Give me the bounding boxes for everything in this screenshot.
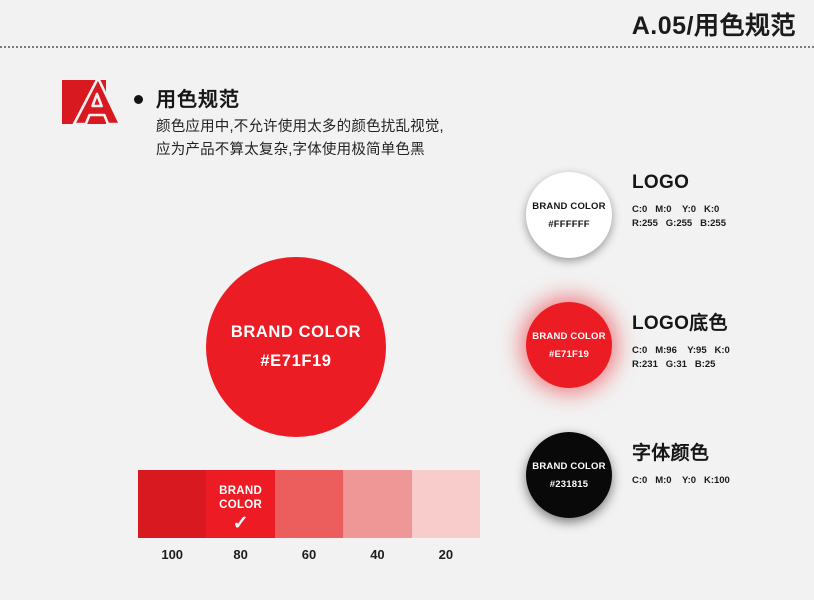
tint-swatch-20[interactable] <box>412 470 480 538</box>
tint-swatch-60[interactable] <box>275 470 343 538</box>
tint-swatch-100[interactable] <box>138 470 206 538</box>
tint-selected-label-line1: BRAND <box>219 485 262 497</box>
tint-swatch-40[interactable] <box>343 470 411 538</box>
color-row-text-text-color: 字体颜色 C:0 M:0 Y:0 K:100 <box>632 432 812 488</box>
tint-value-80: 80 <box>206 547 274 562</box>
header-divider <box>0 46 814 48</box>
color-row-cmyk-logo-background: C:0 M:96 Y:95 K:0 <box>632 344 812 358</box>
color-row-text-color: BRAND COLOR #231815 字体颜色 C:0 M:0 Y:0 K:1… <box>526 432 806 518</box>
brand-color-label: BRAND COLOR <box>231 323 361 342</box>
color-row-cmyk-logo: C:0 M:0 Y:0 K:0 <box>632 203 812 217</box>
bullet-dot-icon <box>134 95 143 104</box>
color-row-text-logo: LOGO C:0 M:0 Y:0 K:0 R:255 G:255 B:255 <box>632 172 812 231</box>
tint-selected-label-line2: COLOR <box>219 499 262 511</box>
swatch-hex-red: #E71F19 <box>549 349 589 360</box>
tint-value-row: 100 80 60 40 20 <box>138 547 480 562</box>
swatch-hex-white: #FFFFFF <box>548 219 590 230</box>
color-row-title-text-color: 字体颜色 <box>632 432 812 465</box>
intro-body-text: 颜色应用中,不允许使用太多的颜色扰乱视觉,应为产品不算太复杂,字体使用极简单色黑 <box>156 116 456 162</box>
swatch-name-black: BRAND COLOR <box>532 461 605 472</box>
check-icon: ✓ <box>206 514 274 533</box>
swatch-name-red: BRAND COLOR <box>532 331 605 342</box>
page-header: A.05/用色规范 <box>0 0 814 48</box>
brand-color-circle: BRAND COLOR #E71F19 <box>206 257 386 437</box>
color-row-title-logo: LOGO <box>632 172 812 194</box>
color-swatch-white: BRAND COLOR #FFFFFF <box>526 172 612 258</box>
tint-swatch-row: BRAND COLOR ✓ <box>138 470 480 538</box>
color-row-title-logo-background: LOGO底色 <box>632 302 812 335</box>
color-row-cmyk-text-color: C:0 M:0 Y:0 K:100 <box>632 474 812 488</box>
tint-value-40: 40 <box>343 547 411 562</box>
tint-value-100: 100 <box>138 547 206 562</box>
color-row-logo-background: BRAND COLOR #E71F19 LOGO底色 C:0 M:96 Y:95… <box>526 302 806 388</box>
color-swatch-red: BRAND COLOR #E71F19 <box>526 302 612 388</box>
color-row-rgb-logo: R:255 G:255 B:255 <box>632 217 812 231</box>
tint-value-60: 60 <box>275 547 343 562</box>
swatch-name-white: BRAND COLOR <box>532 201 605 212</box>
intro-heading: 用色规范 <box>156 83 240 112</box>
tint-swatch-80[interactable]: BRAND COLOR ✓ <box>206 470 274 538</box>
color-swatch-black: BRAND COLOR #231815 <box>526 432 612 518</box>
tint-value-20: 20 <box>412 547 480 562</box>
tint-scale: BRAND COLOR ✓ 100 80 60 40 20 <box>138 470 480 562</box>
page-title: A.05/用色规范 <box>632 6 796 42</box>
color-row-logo: BRAND COLOR #FFFFFF LOGO C:0 M:0 Y:0 K:0… <box>526 172 806 258</box>
color-row-rgb-logo-background: R:231 G:31 B:25 <box>632 358 812 372</box>
brand-a-logo-icon <box>62 78 120 126</box>
brand-color-hex: #E71F19 <box>260 352 331 371</box>
color-row-text-logo-background: LOGO底色 C:0 M:96 Y:95 K:0 R:231 G:31 B:25 <box>632 302 812 372</box>
tint-selected-label: BRAND COLOR <box>206 484 274 512</box>
swatch-hex-black: #231815 <box>550 479 588 490</box>
